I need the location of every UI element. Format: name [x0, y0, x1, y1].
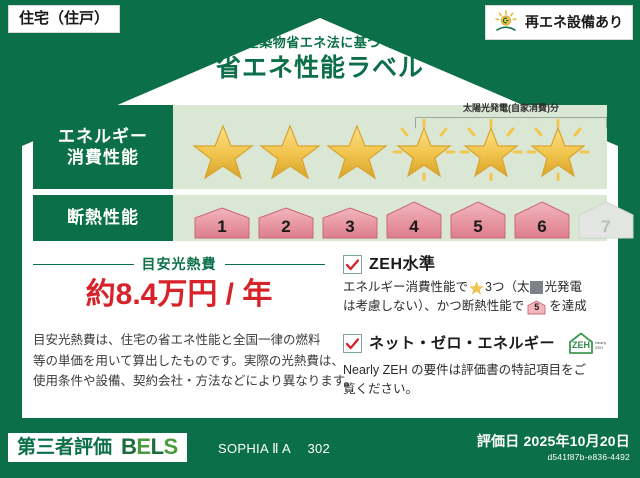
star-6-solar: [526, 119, 590, 181]
insulation-grade-4: 4: [383, 198, 445, 240]
insulation-grade-7: 7: [575, 198, 637, 240]
zeh-standard-block: ZEH水準 エネルギー消費性能で 3つ（太 光発電: [343, 255, 607, 317]
zeh-standard-desc-line2: は考慮しない）、かつ断熱性能で 5 を達成: [343, 297, 607, 316]
row-insulation-label-text: 断熱性能: [67, 207, 139, 228]
certification-panel: ZEH水準 エネルギー消費性能で 3つ（太 光発電: [325, 252, 607, 412]
utility-cost-note-line3: 使用条件や設備、契約会社・方法などにより異なります。: [33, 371, 325, 392]
insulation-grade-5-number: 5: [447, 218, 509, 235]
insulation-grade-4-number: 4: [383, 218, 445, 235]
lower-section: 目安光熱費 約8.4万円 / 年 目安光熱費は、住宅の省エネ性能と全国一律の燃料…: [33, 252, 607, 412]
star-4-solar: [392, 119, 456, 181]
bels-certification-badge: 第三者評価 BELS: [8, 433, 187, 462]
performance-rows: エネルギー 消費性能 太陽光発電(自家消費)分: [33, 105, 607, 247]
property-name: SOPHIA Ⅱ A 302: [218, 442, 330, 455]
check-icon: [343, 255, 362, 274]
energy-label-root: 住宅（住戸） 再エネ設備あり 建築物省エネ法に基づく 省エネ性能ラベル: [0, 0, 640, 478]
star-2: [258, 119, 322, 181]
insulation-grade-6: 6: [511, 198, 573, 240]
utility-cost-note-line1: 目安光熱費は、住宅の省エネ性能と全国一律の燃料: [33, 330, 325, 351]
third-party-eval-label: 第三者評価: [17, 438, 112, 457]
page-title: 省エネ性能ラベル: [0, 56, 640, 81]
insulation-grade-3-number: 3: [319, 218, 381, 235]
bels-letter-l: L: [151, 434, 164, 459]
sun-icon: [493, 10, 519, 34]
row-insulation-body: 1 2 3: [173, 195, 607, 241]
zeh-desc-line2-post: を達成: [549, 297, 587, 316]
rule-left: [33, 264, 134, 265]
bels-letter-e: E: [136, 434, 150, 459]
zeh-desc-line2-pre: は考慮しない）、かつ断熱性能で: [343, 297, 524, 316]
insulation-grade-5: 5: [447, 198, 509, 240]
net-zero-energy-block: ネット・ゼロ・エネルギー ZEH Nearly ZEH Nearly ZEH の…: [343, 331, 607, 400]
utility-cost-heading: 目安光熱費: [33, 257, 325, 271]
insulation-grade-1-number: 1: [191, 218, 253, 235]
row-insulation-performance: 断熱性能 1: [33, 195, 607, 241]
zeh-standard-desc-line1: エネルギー消費性能で 3つ（太 光発電: [343, 278, 607, 297]
badge-renewable-equipment: 再エネ設備あり: [485, 5, 633, 40]
star-5-solar: [459, 119, 523, 181]
solar-share-note: 太陽光発電(自家消費)分: [415, 104, 607, 113]
badge-building-type: 住宅（住戸）: [8, 5, 120, 33]
badge-renewable-label: 再エネ設備あり: [525, 15, 623, 29]
insulation-grade-2: 2: [255, 202, 317, 240]
evaluation-date: 評価日 2025年10月20日: [477, 434, 630, 448]
insulation-grade-6-number: 6: [511, 218, 573, 235]
utility-cost-note: 目安光熱費は、住宅の省エネ性能と全国一律の燃料 等の単価を用いて算出したものです…: [33, 330, 325, 392]
check-icon: [343, 334, 362, 353]
svg-text:ZEH: ZEH: [595, 345, 603, 350]
utility-cost-value: 約8.4万円 / 年: [33, 280, 325, 310]
row-energy-label: エネルギー 消費性能: [33, 105, 173, 189]
header: 建築物省エネ法に基づく 省エネ性能ラベル: [0, 36, 640, 81]
bels-letter-s: S: [164, 434, 178, 459]
svg-text:ZEH: ZEH: [572, 340, 590, 350]
insulation-grade-2-number: 2: [255, 218, 317, 235]
row-energy-label-line2: 消費性能: [67, 147, 139, 168]
star-rating: [191, 119, 590, 181]
star-3: [325, 119, 389, 181]
utility-cost-note-line2: 等の単価を用いて算出したものです。実際の光熱費は、: [33, 351, 325, 372]
row-energy-label-line1: エネルギー: [58, 126, 148, 147]
footer: 第三者評価 BELS SOPHIA Ⅱ A 302 評価日 2025年10月20…: [0, 422, 640, 478]
utility-cost-heading-text: 目安光熱費: [142, 257, 217, 271]
net-zero-energy-header: ネット・ゼロ・エネルギー ZEH Nearly ZEH: [343, 331, 607, 357]
bels-logo: BELS: [121, 436, 178, 458]
redacted-character: [530, 281, 543, 294]
row-energy-performance: エネルギー 消費性能 太陽光発電(自家消費)分: [33, 105, 607, 189]
net-zero-energy-desc: Nearly ZEH の要件は評価書の特記項目をご 覧ください。: [343, 361, 607, 400]
zeh-standard-title: ZEH水準: [369, 257, 436, 273]
inline-insulation-grade-icon: 5: [527, 300, 546, 315]
bels-letter-b: B: [121, 434, 136, 459]
zeh-logo-icon: ZEH Nearly ZEH: [566, 331, 606, 357]
insulation-grade-3: 3: [319, 202, 381, 240]
net-zero-energy-desc-line2: 覧ください。: [343, 380, 607, 399]
document-id: d541f87b-e836-4492: [477, 453, 630, 462]
utility-cost-panel: 目安光熱費 約8.4万円 / 年 目安光熱費は、住宅の省エネ性能と全国一律の燃料…: [33, 252, 325, 412]
footer-right: 評価日 2025年10月20日 d541f87b-e836-4492: [477, 434, 630, 462]
star-1: [191, 119, 255, 181]
insulation-grade-scale: 1 2 3: [191, 198, 637, 240]
row-energy-body: 太陽光発電(自家消費)分: [173, 105, 607, 189]
net-zero-energy-title: ネット・ゼロ・エネルギー: [369, 336, 555, 351]
zeh-desc-after-redact: 光発電: [544, 278, 582, 297]
zeh-desc-pre: エネルギー消費性能で: [343, 278, 468, 297]
rule-right: [225, 264, 326, 265]
zeh-desc-mid: 3つ（太: [485, 278, 529, 297]
net-zero-energy-desc-line1: Nearly ZEH の要件は評価書の特記項目をご: [343, 361, 607, 380]
insulation-grade-1: 1: [191, 202, 253, 240]
zeh-standard-desc: エネルギー消費性能で 3つ（太 光発電 は考慮しない）、かつ断熱性能で: [343, 278, 607, 317]
inline-star-icon: [469, 280, 484, 295]
inline-grade-number: 5: [527, 303, 546, 312]
row-insulation-label: 断熱性能: [33, 195, 173, 241]
insulation-grade-7-number: 7: [575, 218, 637, 235]
zeh-standard-header: ZEH水準: [343, 255, 607, 274]
